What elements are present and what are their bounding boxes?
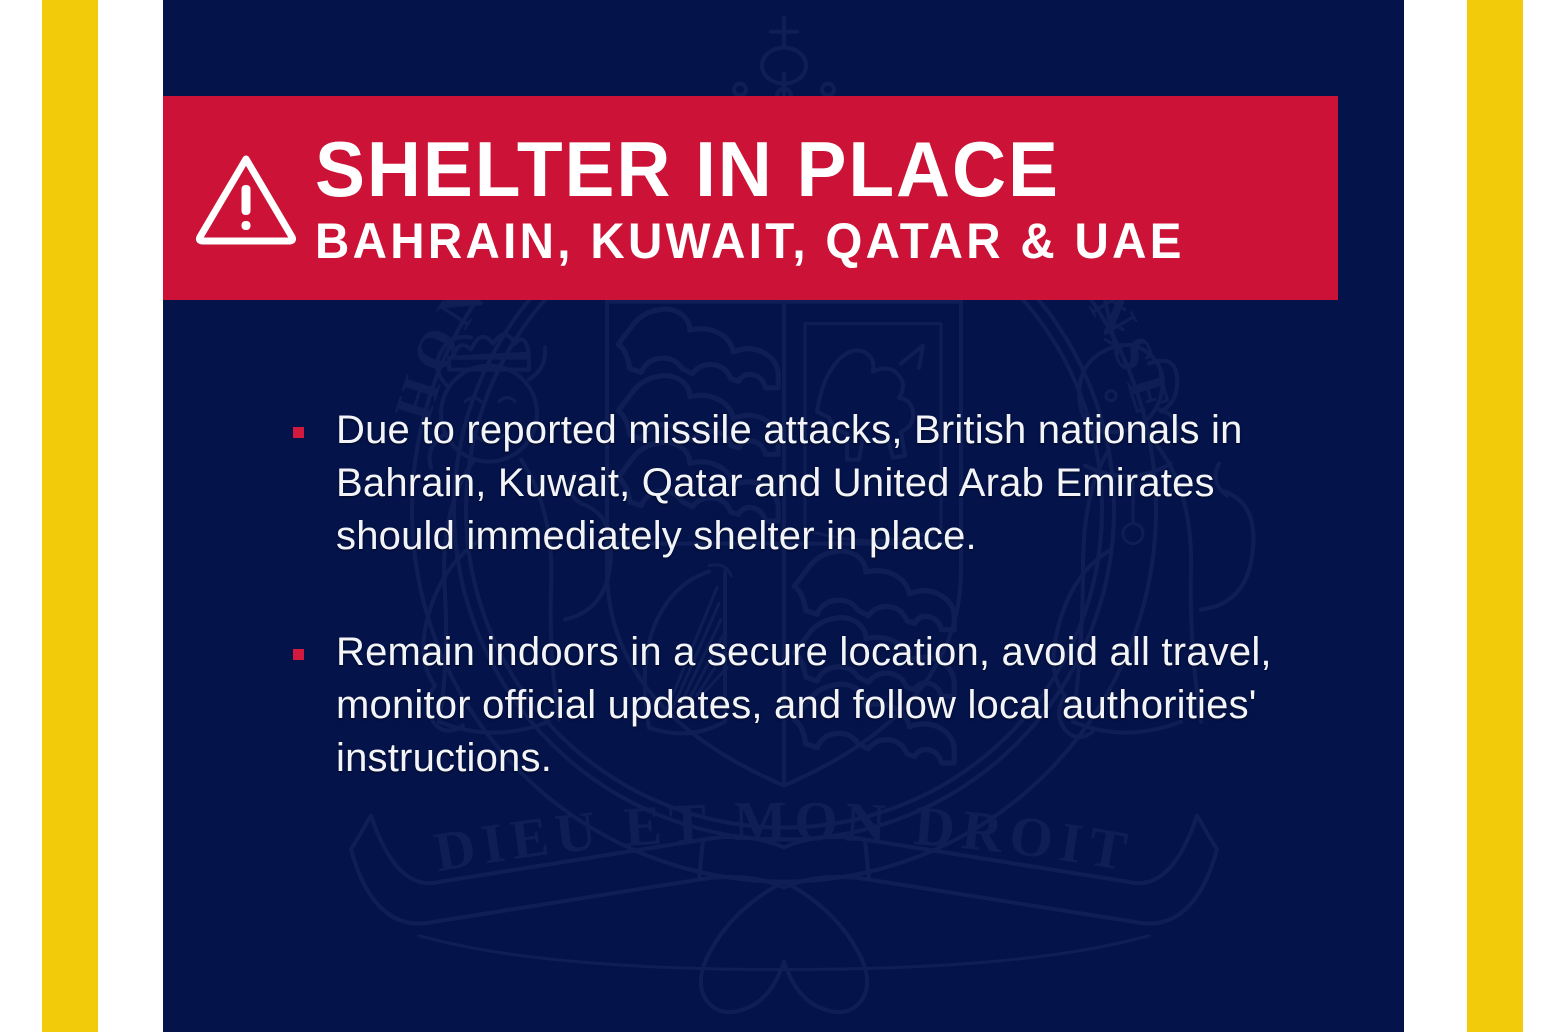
square-bullet-icon: [293, 649, 304, 660]
decorative-stripe-left: [42, 0, 98, 1032]
list-item-text: Remain indoors in a secure location, avo…: [336, 626, 1293, 784]
banner-text-group: SHELTER IN PLACE BAHRAIN, KUWAIT, QATAR …: [315, 130, 1231, 266]
list-item-text: Due to reported missile attacks, British…: [336, 404, 1293, 562]
decorative-stripe-right: [1467, 0, 1523, 1032]
advisory-bullet-list: Due to reported missile attacks, British…: [293, 404, 1293, 785]
alert-banner: SHELTER IN PLACE BAHRAIN, KUWAIT, QATAR …: [163, 96, 1338, 300]
list-item: Remain indoors in a secure location, avo…: [293, 626, 1293, 784]
svg-text:DIEU ET MON DROIT: DIEU ET MON DROIT: [429, 790, 1137, 884]
alert-poster: HONI SOIT QUI MAL Y PENSE: [0, 0, 1548, 1032]
alert-card: HONI SOIT QUI MAL Y PENSE: [163, 0, 1404, 1032]
banner-title: SHELTER IN PLACE: [315, 130, 1194, 208]
warning-triangle-icon: [187, 146, 305, 250]
banner-subtitle: BAHRAIN, KUWAIT, QATAR & UAE: [315, 216, 1185, 266]
list-item: Due to reported missile attacks, British…: [293, 404, 1293, 562]
square-bullet-icon: [293, 427, 304, 438]
